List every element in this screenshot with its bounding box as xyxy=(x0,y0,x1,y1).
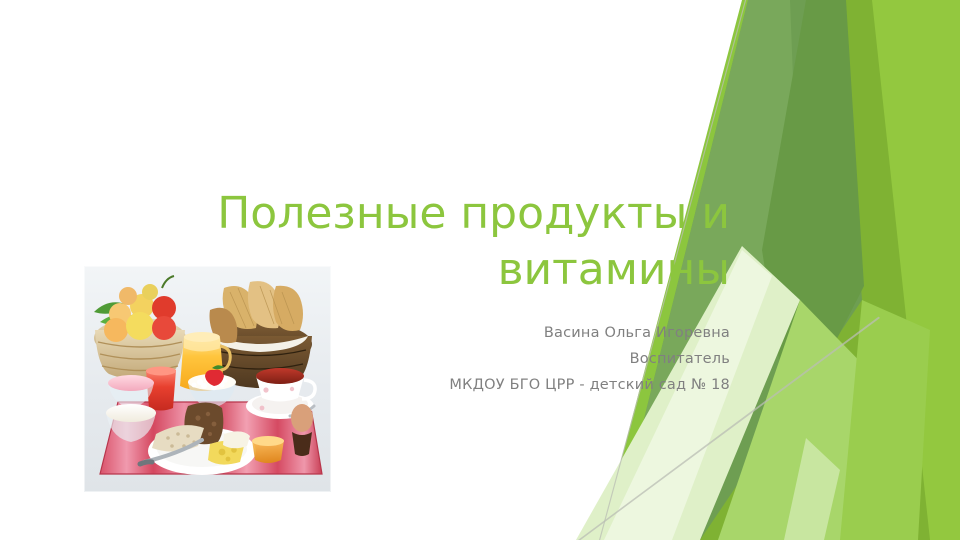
facet-shape-lightgreen-lower xyxy=(718,300,878,540)
slide-subtitle: Васина Ольга Игоревна Воспитатель МКДОУ … xyxy=(330,320,730,398)
slide-title-text: Полезные продукты и витамины xyxy=(150,186,730,299)
subtitle-role: Воспитатель xyxy=(330,346,730,372)
healthy-breakfast-photo xyxy=(84,266,331,492)
facet-shape-yellowgreen-right xyxy=(838,0,960,540)
facet-shape-darkgreen-inner xyxy=(762,0,864,430)
subtitle-author: Васина Ольга Игоревна xyxy=(330,320,730,346)
facet-shape-pale-sliver xyxy=(784,438,840,540)
subtitle-organization: МКДОУ БГО ЦРР - детский сад № 18 xyxy=(330,372,730,398)
slide-title: Полезные продукты и витамины xyxy=(150,186,730,299)
facet-shape-deepgreen-bottom xyxy=(726,430,828,540)
facet-shape-brightgreen-mid xyxy=(700,0,930,540)
facet-shape-softgreen-band xyxy=(840,300,930,540)
presentation-slide: Полезные продукты и витамины Васина Ольг… xyxy=(0,0,960,540)
photo-illustration xyxy=(84,266,331,492)
